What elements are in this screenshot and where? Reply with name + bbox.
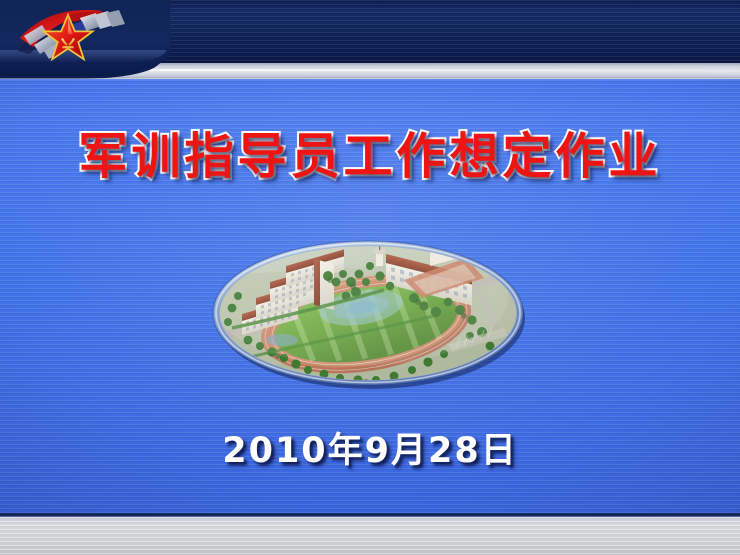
footer-band xyxy=(0,517,740,555)
pla-emblem-icon xyxy=(6,4,132,66)
header-underline xyxy=(0,78,740,80)
page-title: 军训指导员工作想定作业 xyxy=(0,128,740,186)
header-highlight-line xyxy=(150,69,740,71)
slide-date: 2010年9月28日 xyxy=(0,422,740,473)
presentation-slide: 军训指导员工作想定作业 xyxy=(0,0,740,555)
campus-aerial-photo xyxy=(208,236,528,394)
